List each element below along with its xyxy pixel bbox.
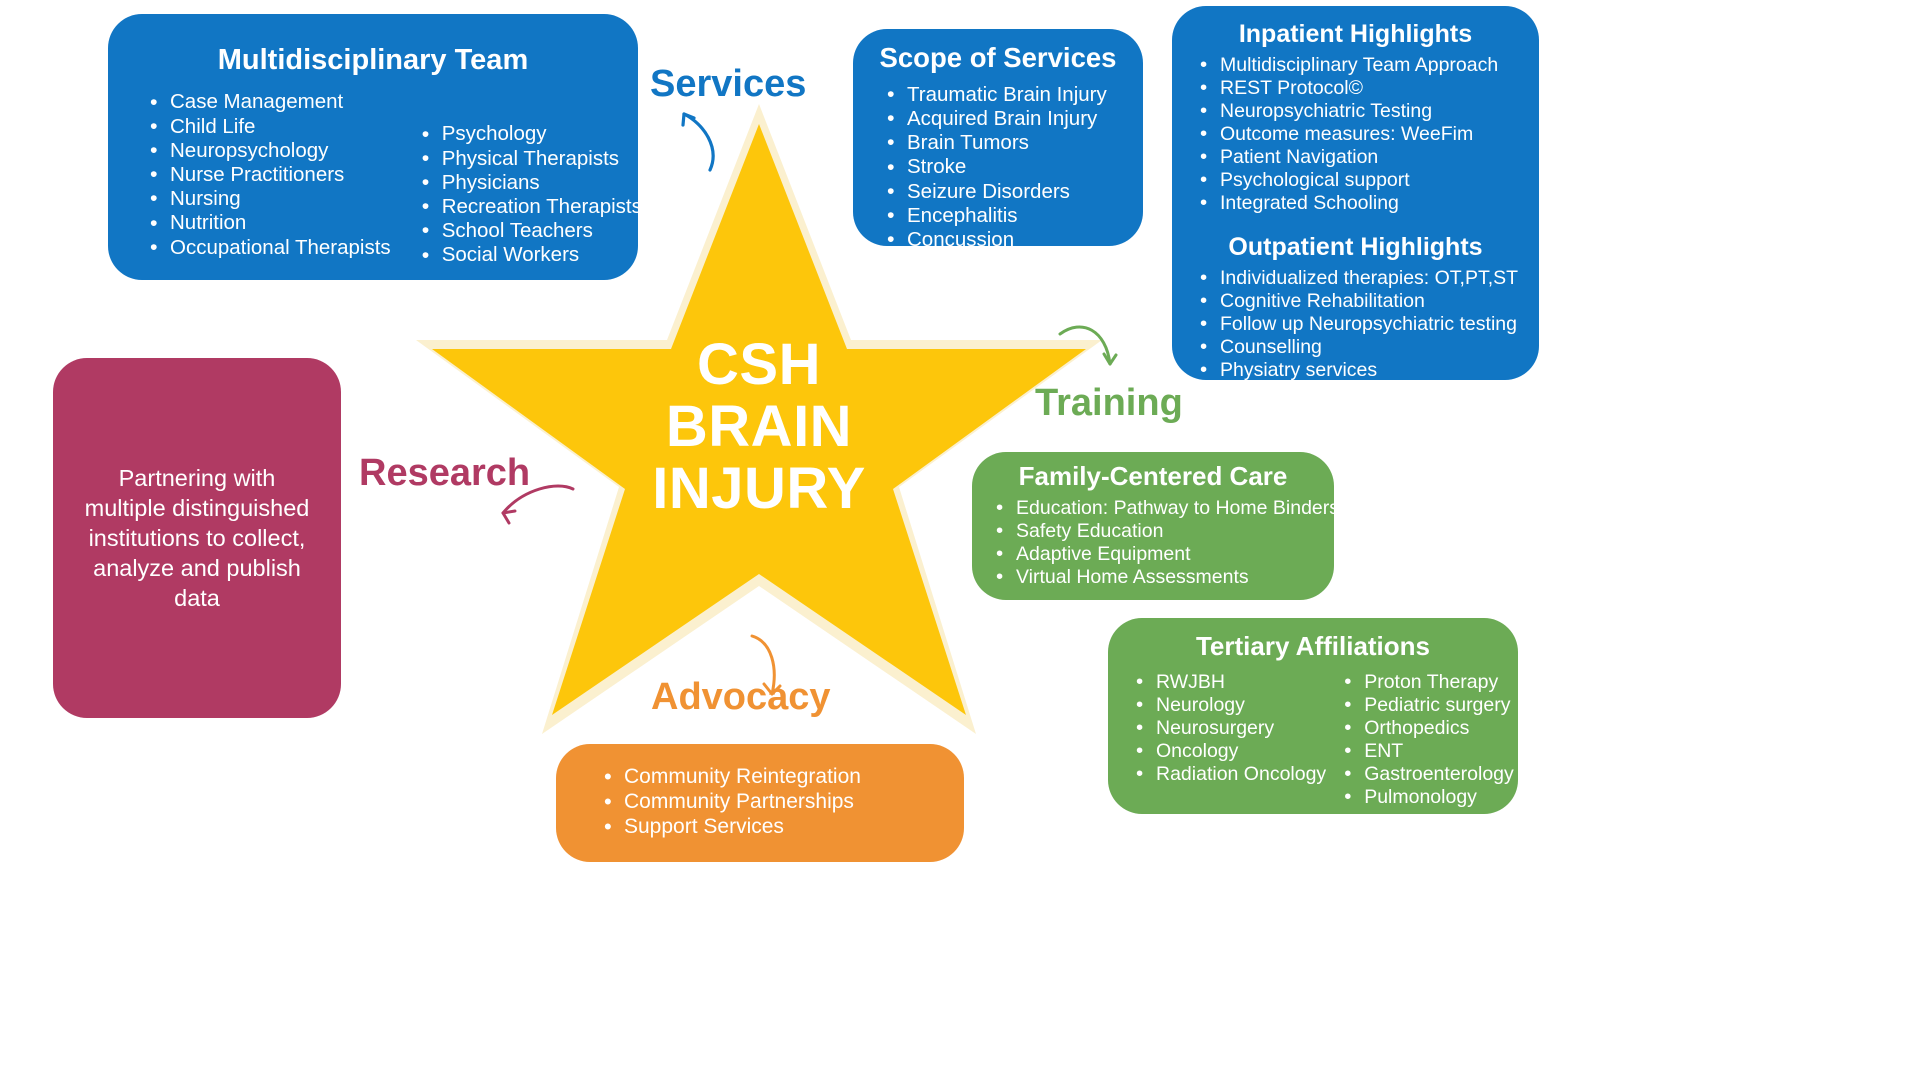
list-item: Pediatric Complex Care Clinic	[1194, 405, 1539, 428]
outpatient-highlights-list: Individualized therapies: OT,PT,ST Cogni…	[1172, 261, 1539, 428]
list-item: Patient Navigation	[1194, 146, 1539, 169]
card-title-tertiary-affiliations: Tertiary Affiliations	[1108, 618, 1518, 661]
category-label-services: Services	[650, 63, 806, 106]
list-item: Psychology	[416, 122, 642, 146]
advocacy-list: Community Reintegration Community Partne…	[556, 744, 964, 839]
list-item: Acquired Brain Injury	[881, 107, 1143, 131]
list-item: Neurology	[1130, 694, 1326, 717]
list-item: Community Partnerships	[598, 790, 964, 815]
list-item: RWJBH	[1130, 671, 1326, 694]
multidisciplinary-team-columns: Case Management Child Life Neuropsycholo…	[108, 76, 638, 267]
list-item: Physicians	[416, 171, 642, 195]
list-item: Counselling	[1194, 336, 1539, 359]
list-item: Community Reintegration	[598, 765, 964, 790]
card-multidisciplinary-team[interactable]: Multidisciplinary Team Case Management C…	[108, 14, 638, 280]
list-item: Stroke	[881, 155, 1143, 179]
card-family-centered-care[interactable]: Family-Centered Care Education: Pathway …	[972, 452, 1334, 600]
list-item: Gastroenterology	[1338, 763, 1514, 786]
list-item: Safety Education	[990, 520, 1334, 543]
card-research[interactable]: Partnering with multiple distinguished i…	[53, 358, 341, 718]
curved-arrow-down-right-icon	[1056, 322, 1118, 374]
list-item: Adaptive Equipment	[990, 543, 1334, 566]
card-title-inpatient-highlights: Inpatient Highlights	[1172, 6, 1539, 48]
list-item: Encephalitis	[881, 204, 1143, 228]
inpatient-highlights-list: Multidisciplinary Team Approach REST Pro…	[1172, 48, 1539, 215]
list-item: Social Workers	[416, 243, 642, 267]
category-label-advocacy: Advocacy	[651, 676, 831, 719]
list-item: Follow up Neuropsychiatric testing	[1194, 313, 1539, 336]
multidisciplinary-team-list-b: Psychology Physical Therapists Physician…	[391, 90, 642, 267]
scope-of-services-list: Traumatic Brain Injury Acquired Brain In…	[853, 74, 1143, 252]
list-item: Cognitive Rehabilitation	[1194, 290, 1539, 313]
curved-arrow-down-icon	[748, 632, 796, 704]
list-item: Oncology	[1130, 740, 1326, 763]
card-title-outpatient-highlights: Outpatient Highlights	[1172, 215, 1539, 261]
star-title-line1: CSH	[414, 334, 1104, 396]
curved-arrow-right-icon	[497, 483, 577, 533]
card-highlights[interactable]: Inpatient Highlights Multidisciplinary T…	[1172, 6, 1539, 380]
list-item: Virtual Home Assessments	[990, 566, 1334, 589]
card-title-multidisciplinary-team: Multidisciplinary Team	[108, 14, 638, 76]
family-centered-care-list: Education: Pathway to Home Binders Safet…	[972, 491, 1334, 589]
tertiary-affiliations-list-b: Proton Therapy Pediatric surgery Orthope…	[1326, 671, 1514, 809]
list-item: Child Life	[144, 115, 391, 139]
list-item: Psychological support	[1194, 169, 1539, 192]
list-item: ENT	[1338, 740, 1514, 763]
list-item: School Teachers	[416, 219, 642, 243]
list-item: Integrated Schooling	[1194, 192, 1539, 215]
star-title-line2: BRAIN	[414, 396, 1104, 458]
list-item: Neuropsychology	[144, 139, 391, 163]
card-title-family-centered-care: Family-Centered Care	[972, 452, 1334, 491]
list-item: Seizure Disorders	[881, 180, 1143, 204]
list-item: Nurse Practitioners	[144, 163, 391, 187]
list-item: Occupational Therapists	[144, 236, 391, 260]
list-item: REST Protocol©	[1194, 77, 1539, 100]
tertiary-affiliations-list-a: RWJBH Neurology Neurosurgery Oncology Ra…	[1130, 671, 1326, 809]
infographic-canvas: CSH BRAIN INJURY Services Training Resea…	[0, 0, 1920, 1080]
list-item: Orthopedics	[1338, 717, 1514, 740]
list-item: Support Services	[598, 815, 964, 840]
list-item: Education: Pathway to Home Binders	[990, 497, 1334, 520]
list-item: Case Management	[144, 90, 391, 114]
list-item: Concussion Program	[1194, 382, 1539, 405]
list-item: Proton Therapy	[1338, 671, 1514, 694]
card-tertiary-affiliations[interactable]: Tertiary Affiliations RWJBH Neurology Ne…	[1108, 618, 1518, 814]
list-item: Individualized therapies: OT,PT,ST	[1194, 267, 1539, 290]
list-item: Neuropsychiatric Testing	[1194, 100, 1539, 123]
card-title-scope-of-services: Scope of Services	[853, 29, 1143, 74]
list-item: Multidisciplinary Team Approach	[1194, 54, 1539, 77]
list-item: Neurosurgery	[1130, 717, 1326, 740]
list-item: Recreation Therapists	[416, 195, 642, 219]
list-item: Physiatry services	[1194, 359, 1539, 382]
research-card-text: Partnering with multiple distinguished i…	[53, 358, 341, 718]
list-item: Pulmonology	[1338, 786, 1514, 809]
list-item: Nursing	[144, 187, 391, 211]
card-scope-of-services[interactable]: Scope of Services Traumatic Brain Injury…	[853, 29, 1143, 246]
list-item: Concussion	[881, 228, 1143, 252]
list-item: Pediatric surgery	[1338, 694, 1514, 717]
list-item: Physical Therapists	[416, 147, 642, 171]
category-label-training: Training	[1035, 382, 1183, 425]
list-item: Radiation Oncology	[1130, 763, 1326, 786]
curved-arrow-up-icon	[664, 104, 724, 174]
multidisciplinary-team-list-a: Case Management Child Life Neuropsycholo…	[144, 90, 391, 267]
list-item: Outcome measures: WeeFim	[1194, 123, 1539, 146]
list-item: Traumatic Brain Injury	[881, 83, 1143, 107]
tertiary-affiliations-columns: RWJBH Neurology Neurosurgery Oncology Ra…	[1108, 661, 1518, 809]
card-advocacy[interactable]: Community Reintegration Community Partne…	[556, 744, 964, 862]
list-item: Nutrition	[144, 211, 391, 235]
list-item: Brain Tumors	[881, 131, 1143, 155]
